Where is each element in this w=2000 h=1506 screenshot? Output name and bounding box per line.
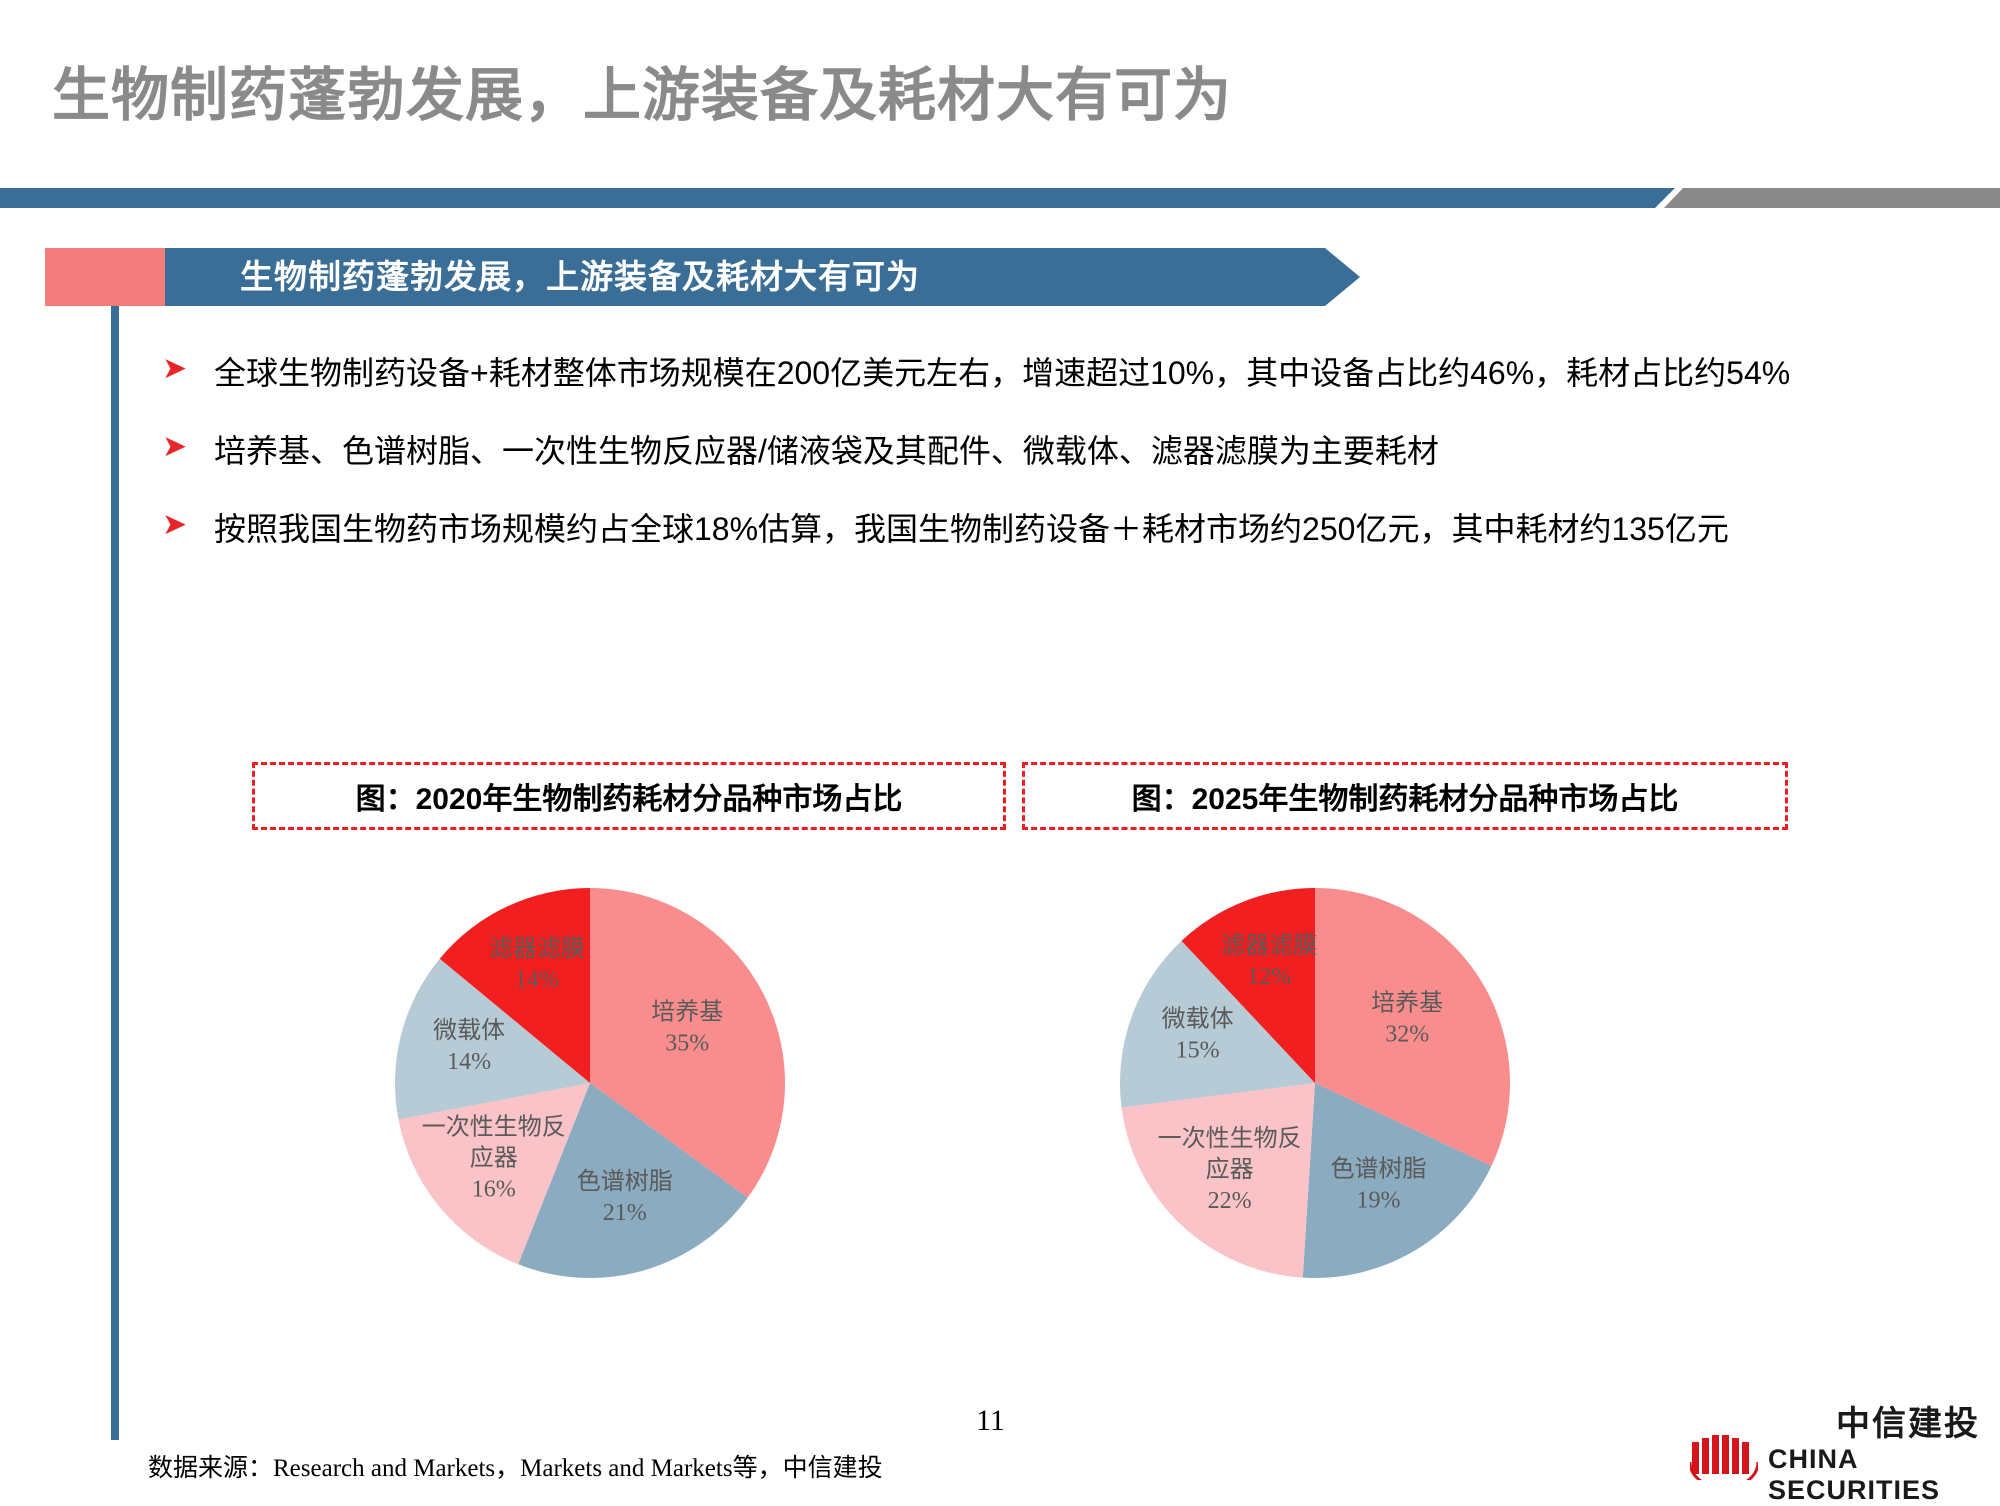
pie-chart-2025: 培养基32%色谱树脂19%一次性生物反应器22%微载体15%滤器滤膜12%	[1120, 888, 1510, 1278]
bullet-text: 全球生物制药设备+耗材整体市场规模在200亿美元左右，增速超过10%，其中设备占…	[214, 355, 1790, 391]
brand-logo: 中信建投 CHINA SECURITIES	[1690, 1400, 1980, 1486]
arrow-right-icon: ➤	[162, 432, 187, 462]
logo-cn-text: 中信建投	[1836, 1396, 1980, 1445]
chart-title-right-label: 图：2025年生物制药耗材分品种市场占比	[1132, 774, 1679, 818]
bullet-list: ➤ 全球生物制药设备+耗材整体市场规模在200亿美元左右，增速超过10%，其中设…	[152, 348, 1952, 581]
chart-title-left-label: 图：2020年生物制药耗材分品种市场占比	[356, 774, 903, 818]
pie-chart-2020: 培养基35%色谱树脂21%一次性生物反应器16%微载体14%滤器滤膜14%	[395, 888, 785, 1278]
chart-title-box-right: 图：2025年生物制药耗材分品种市场占比	[1022, 762, 1788, 830]
bullet-text: 按照我国生物药市场规模约占全球18%估算，我国生物制药设备＋耗材市场约250亿元…	[214, 511, 1729, 547]
fan-logo-icon	[1690, 1432, 1758, 1480]
arrow-right-icon: ➤	[162, 354, 187, 384]
bullet-text: 培养基、色谱树脂、一次性生物反应器/储液袋及其配件、微载体、滤器滤膜为主要耗材	[214, 433, 1439, 469]
banner-title: 生物制药蓬勃发展，上游装备及耗材大有可为	[240, 248, 920, 306]
header-rule-blue	[0, 188, 1655, 208]
header-rule-gray	[1683, 188, 2000, 208]
source-note: 数据来源：Research and Markets，Markets and Ma…	[148, 1448, 883, 1484]
list-item: ➤ 按照我国生物药市场规模约占全球18%估算，我国生物制药设备＋耗材市场约250…	[152, 504, 1952, 556]
logo-en-text: CHINA SECURITIES	[1768, 1444, 1980, 1506]
page-title: 生物制药蓬勃发展，上游装备及耗材大有可为	[52, 48, 1232, 132]
pie-svg: 培养基35%色谱树脂21%一次性生物反应器16%微载体14%滤器滤膜14%	[395, 888, 785, 1278]
chart-title-box-left: 图：2020年生物制药耗材分品种市场占比	[252, 762, 1006, 830]
list-item: ➤ 全球生物制药设备+耗材整体市场规模在200亿美元左右，增速超过10%，其中设…	[152, 348, 1952, 400]
pie-svg: 培养基32%色谱树脂19%一次性生物反应器22%微载体15%滤器滤膜12%	[1120, 888, 1510, 1278]
page-number: 11	[976, 1404, 1005, 1438]
slide-root: 生物制药蓬勃发展，上游装备及耗材大有可为 生物制药蓬勃发展，上游装备及耗材大有可…	[0, 0, 2000, 1500]
list-item: ➤ 培养基、色谱树脂、一次性生物反应器/储液袋及其配件、微载体、滤器滤膜为主要耗…	[152, 426, 1952, 478]
arrow-right-icon: ➤	[162, 510, 187, 540]
left-accent-bar	[111, 300, 119, 1440]
